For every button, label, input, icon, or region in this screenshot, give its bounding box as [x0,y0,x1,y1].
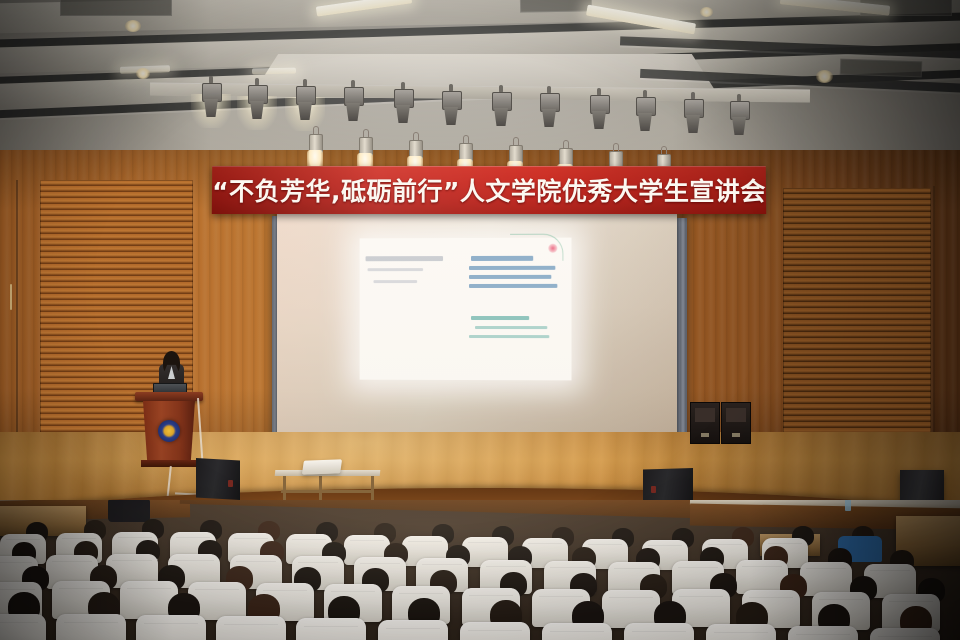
projection-screen [277,214,677,446]
stage-spotlight [634,90,656,136]
water-bottle [845,500,851,511]
stage-monitor-speaker [196,458,240,500]
slide-body-line [469,275,551,279]
slide-body-line [469,266,555,270]
stage-spotlight [440,84,462,130]
audience-seat [788,626,858,640]
ceiling-shading [0,0,960,168]
auditorium-photo: “不负芳华,砥砺前行”人文学院优秀大学生宣讲会 [0,0,960,640]
slide-body-line [471,256,533,261]
podium-top-surface [135,392,203,401]
stage-chair [690,402,720,444]
stage-spotlight [246,78,268,124]
university-emblem [158,420,180,442]
slide-left-heading [366,256,443,261]
slide-body-line [475,326,547,329]
audience-seat [460,622,530,640]
table-rail [281,490,373,493]
slide-body-line [469,284,557,288]
panel-door-handle [10,284,12,310]
audience-seat [706,624,776,640]
audience-seat [216,616,286,640]
slide-left-line [373,280,417,283]
slide-left-line [368,268,424,271]
slide-body-line [471,316,529,320]
stage-spotlight [342,80,364,126]
stage-spotlight [392,82,414,128]
stage-spotlight [728,94,750,140]
stage-spotlight [588,88,610,134]
stage-spotlight [200,76,222,122]
ceiling-table-projector [302,459,342,474]
speaker-indicator-led [651,486,656,493]
audience-seat [136,615,206,640]
wooden-podium [139,392,199,467]
stage-spotlight [538,86,560,132]
audience-area [0,500,960,640]
audience-seat [378,620,448,640]
stacked-stage-chairs [690,402,752,446]
audience-seat [0,614,46,640]
stage-spotlight [294,79,316,125]
stage-spotlight [490,85,512,131]
slatted-acoustic-panel-right [783,188,931,434]
audience-seat [56,614,126,640]
event-banner-text: “不负芳华,砥砺前行”人文学院优秀大学生宣讲会 [212,172,766,208]
panel-seam [16,180,18,438]
stage-spotlight [682,92,704,138]
speaker-indicator-led [228,480,233,487]
projected-slide [360,238,572,381]
bag-on-ledge [108,500,150,522]
audience-seat [624,623,694,640]
audience-seat [296,618,366,640]
slide-accent-dot [548,244,557,253]
audience-seat [800,562,852,596]
audience-seat [542,623,612,640]
counter-front-panel [180,500,700,518]
stage-chair [721,402,751,444]
ceiling [0,0,960,168]
slide-body-line [469,335,549,338]
event-banner: “不负芳华,砥砺前行”人文学院优秀大学生宣讲会 [212,166,766,214]
audience-seat [870,628,940,640]
panel-seam [933,186,935,436]
